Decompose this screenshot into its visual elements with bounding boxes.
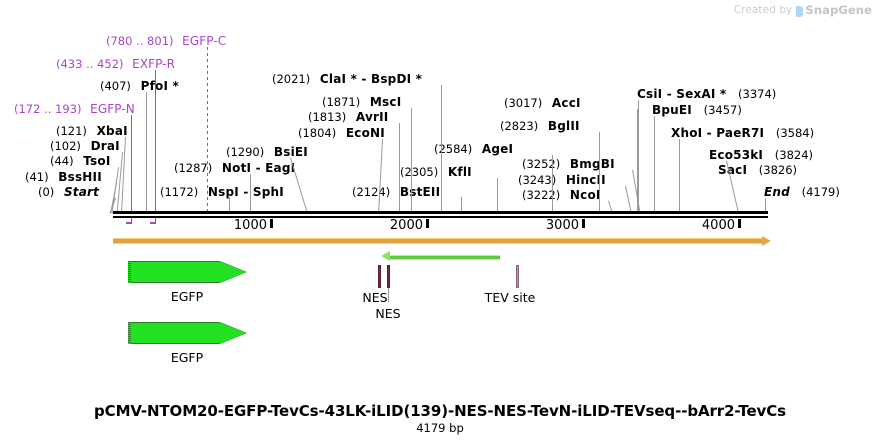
label-saci-position: (3826) [759,163,797,177]
label-exfp-r[interactable]: (433 .. 452) EXFP-R [56,58,175,70]
label-agei-position: (2584) [434,142,472,156]
label-xbai-name: XbaI [97,124,128,138]
feature-nes-label-2: NES [375,306,400,321]
feature-egfp-arrow-2[interactable] [128,322,246,344]
antisense-segment-arrow-head [381,251,390,261]
label-bpuei-position: (3457) [704,103,742,117]
ruler-tick-4000 [738,219,741,228]
feature-egfp-arrow-2-body [128,322,220,344]
label-bsiei-position: (1290) [226,145,264,159]
label-end-name: End [764,185,790,199]
ruler-label-2000: 2000 [390,218,423,233]
feature-egfp-arrow-1-body [128,261,220,283]
label-drai-position: (102) [50,139,81,153]
label-egfp-c[interactable]: (780 .. 801) EGFP-C [106,35,226,47]
label-saci-name: SacI [718,163,747,177]
feature-nes-marker-2[interactable] [387,265,390,288]
leader-exfp-r-foot [150,222,156,224]
label-hincii-position: (3243) [518,173,556,187]
label-pfoi-name: PfoI * [141,79,179,93]
label-ncoi-position: (3222) [522,188,560,202]
label-bmgbi-position: (3252) [522,157,560,171]
label-bstEII-position: (2124) [352,185,390,199]
leader-noti-eagi [250,174,251,214]
leader-egfp-c [207,47,208,214]
label-xbai-position: (121) [56,124,87,138]
feature-egfp-arrow-2-head [219,322,246,344]
leader-bglii [599,132,600,214]
label-ncoi[interactable]: (3222) NcoI [522,189,601,201]
leader-msci [411,108,412,214]
label-exfp-r-name: EXFP-R [132,57,175,71]
label-egfp-c-position: (780 .. 801) [106,34,174,48]
sequence-span-arrow-bar [113,238,762,244]
leader-clai-bspdi [441,85,442,214]
label-start-name: Start [64,185,99,199]
label-csii-sexai[interactable]: CsiI - SexAI * (3374) [637,88,776,100]
label-econi-position: (1804) [298,126,336,140]
leader-bpuei [654,116,655,214]
label-xbai[interactable]: (121) XbaI [56,125,128,137]
leader-xhoi-paer7i [679,139,680,214]
label-tsoi[interactable]: (44) TsoI [50,155,111,167]
label-kfli-position: (2305) [400,165,438,179]
leader-csii-sexai [638,100,639,214]
snapgene-credit: Created by SnapGene [734,3,872,17]
label-msci-position: (1871) [322,95,360,109]
plasmid-title: pCMV-NTOM20-EGFP-TevCs-43LK-iLID(139)-NE… [0,402,880,420]
label-eco53ki[interactable]: Eco53kI (3824) [709,149,813,161]
ruler-label-1000: 1000 [234,218,267,233]
ruler-tick-1000 [270,219,273,228]
label-end-position: (4179) [802,185,840,199]
label-egfp-n-position: (172 .. 193) [14,102,82,116]
label-eco53ki-position: (3824) [775,148,813,162]
label-drai-name: DraI [91,139,120,153]
label-agei[interactable]: (2584) AgeI [434,143,513,155]
label-kfli-name: KflI [448,165,472,179]
label-csii-sexai-position: (3374) [738,87,776,101]
label-tsoi-position: (44) [50,154,74,168]
label-ncoi-name: NcoI [570,188,601,202]
label-clai-bspdi[interactable]: (2021) ClaI * - BspDI * [272,73,422,85]
leader-egfp-n [131,115,132,214]
label-econi[interactable]: (1804) EcoNI [298,127,385,139]
feature-egfp-arrow-2-start-cap [128,322,131,344]
snapgene-logo-icon [796,6,803,17]
label-econi-name: EcoNI [346,126,385,140]
label-msci-name: MscI [370,95,401,109]
feature-egfp-label-1: EGFP [171,289,203,304]
feature-egfp-label-2: EGFP [171,350,203,365]
label-pfoi-position: (407) [100,79,131,93]
label-bglii-position: (2823) [500,119,538,133]
label-bmgbi-name: BmgBI [570,157,615,171]
label-bsshii-name: BssHII [58,170,102,184]
label-noti-eagi[interactable]: (1287) NotI - EagI [174,162,295,174]
label-acci-name: AccI [552,96,581,110]
label-hincii[interactable]: (3243) HincII [518,174,606,186]
label-bglii-name: BglII [548,119,580,133]
dna-backbone-bottom-strand [113,216,768,219]
ruler-label-3000: 3000 [546,218,579,233]
label-avrii-position: (1813) [308,110,346,124]
sequence-span-arrow-head [762,236,771,246]
label-egfp-n-name: EGFP-N [90,102,135,116]
label-agei-name: AgeI [482,142,513,156]
leader-kfli [497,178,498,214]
label-csii-sexai-name: CsiI - SexAI * [637,87,726,101]
label-end[interactable]: End (4179) [764,186,840,198]
credit-prefix: Created by [734,4,793,16]
feature-nes-label-1: NES [362,290,387,305]
label-acci[interactable]: (3017) AccI [504,97,581,109]
leader-xbai [121,137,126,214]
label-egfp-c-name: EGFP-C [182,34,226,48]
plasmid-map-canvas: Created by SnapGene (780 .. 801) EGFP-C … [0,0,880,442]
label-avrii[interactable]: (1813) AvrII [308,111,388,123]
label-bsshii-position: (41) [25,170,49,184]
label-start-position: (0) [38,185,54,199]
label-xhoi-paer7i[interactable]: XhoI - PaeR7I (3584) [671,127,814,139]
label-exfp-r-position: (433 .. 452) [56,57,124,71]
label-nspi-sphi-name: NspI - SphI [208,185,284,199]
label-bsiei[interactable]: (1290) BsiEI [226,146,308,158]
label-clai-bspdi-name: ClaI * - BspDI * [320,72,422,86]
label-noti-eagi-name: NotI - EagI [222,161,295,175]
leader-avrii [399,123,400,214]
feature-egfp-arrow-1-start-cap [128,261,131,283]
label-egfp-n[interactable]: (172 .. 193) EGFP-N [14,103,135,115]
feature-egfp-arrow-1[interactable] [128,261,246,283]
label-acci-position: (3017) [504,96,542,110]
label-nspi-sphi[interactable]: (1172) NspI - SphI [160,186,284,198]
leader-bsiei [290,158,308,214]
label-xhoi-paer7i-position: (3584) [776,126,814,140]
leader-agei [552,155,553,214]
label-bstEII-name: BstEII [400,185,440,199]
leader-exfp-r [155,70,156,214]
plasmid-length: 4179 bp [0,421,880,435]
feature-tev-site-marker[interactable] [516,265,519,288]
label-bsshii[interactable]: (41) BssHII [25,171,102,183]
label-avrii-name: AvrII [356,110,389,124]
label-start[interactable]: (0) Start [38,186,99,198]
label-bpuei[interactable]: BpuEI (3457) [652,104,742,116]
label-pfoi[interactable]: (407) PfoI * [100,80,179,92]
credit-brand: SnapGene [806,3,873,17]
label-bpuei-name: BpuEI [652,103,692,117]
feature-nes-leader-2 [388,288,389,302]
ruler-tick-3000 [582,219,585,228]
leader-pfoi [146,92,147,214]
label-xhoi-paer7i-name: XhoI - PaeR7I [671,126,764,140]
ruler-tick-2000 [426,219,429,228]
label-nspi-sphi-position: (1172) [160,185,198,199]
ruler-label-4000: 4000 [702,218,735,233]
label-bglii[interactable]: (2823) BglII [500,120,580,132]
label-drai[interactable]: (102) DraI [50,140,120,152]
label-bstEII[interactable]: (2124) BstEII [352,186,440,198]
leader-egfp-n-foot [126,222,132,224]
label-msci[interactable]: (1871) MscI [322,96,401,108]
feature-tev-site-label: TEV site [485,290,536,305]
leader-econi [378,139,383,215]
label-bmgbi[interactable]: (3252) BmgBI [522,158,615,170]
label-clai-bspdi-position: (2021) [272,72,310,86]
label-tsoi-name: TsoI [83,154,110,168]
label-eco53ki-name: Eco53kI [709,148,763,162]
feature-egfp-arrow-1-head [219,261,246,283]
feature-nes-marker-1[interactable] [378,265,381,288]
antisense-segment-arrow-bar [390,255,500,260]
